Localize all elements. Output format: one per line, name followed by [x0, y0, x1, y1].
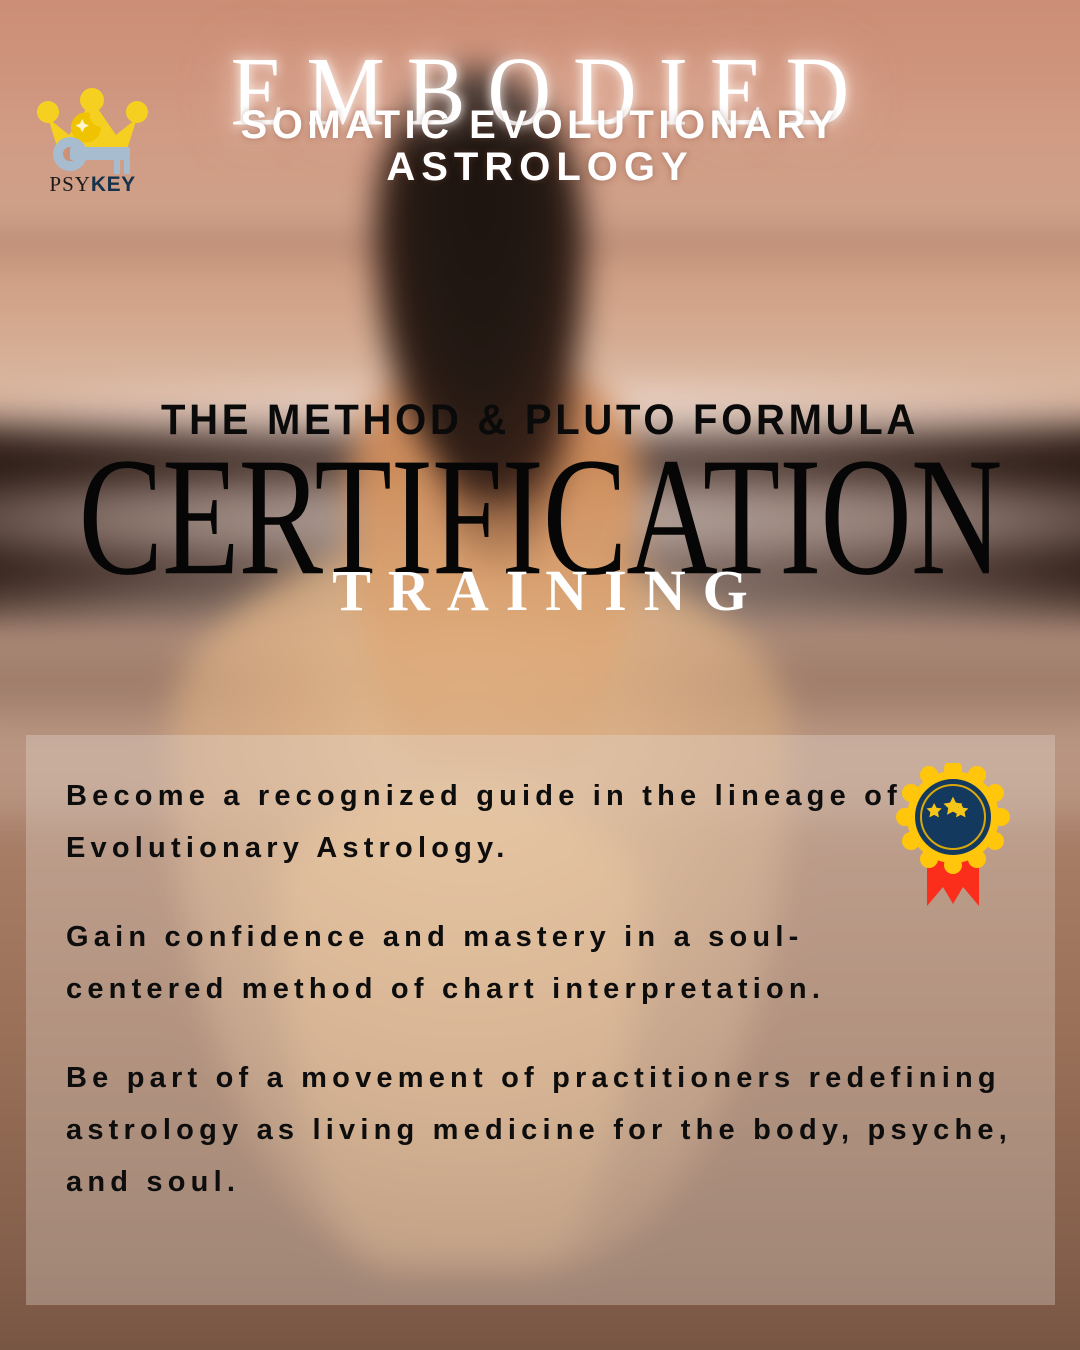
logo-wordmark: PSYKEY	[30, 174, 155, 195]
benefit-item: Gain confidence and mastery in a soul-ce…	[66, 912, 946, 1015]
benefit-item: Become a recognized guide in the lineage…	[66, 771, 926, 874]
psykey-logo[interactable]: PSYKEY	[30, 78, 155, 200]
subtitle-line-2: ASTROLOGY	[0, 146, 1080, 188]
logo-word-psy: PSY	[49, 172, 91, 196]
award-ribbon-badge-icon	[889, 763, 1017, 913]
logo-word-key: KEY	[91, 173, 136, 196]
award-badge	[889, 763, 1017, 913]
benefit-item: Be part of a movement of practitioners r…	[66, 1053, 1015, 1208]
crown-key-logo-icon	[30, 78, 155, 178]
benefits-panel: Become a recognized guide in the lineage…	[26, 735, 1055, 1305]
subtitle-block: SOMATIC EVOLUTIONARY ASTROLOGY	[0, 104, 1080, 189]
title-subline: TRAINING	[0, 557, 1080, 624]
poster-canvas: PSYKEY EMBODIED SOMATIC EVOLUTIONARY AST…	[0, 0, 1080, 1350]
subtitle-line-1: SOMATIC EVOLUTIONARY	[0, 104, 1080, 146]
